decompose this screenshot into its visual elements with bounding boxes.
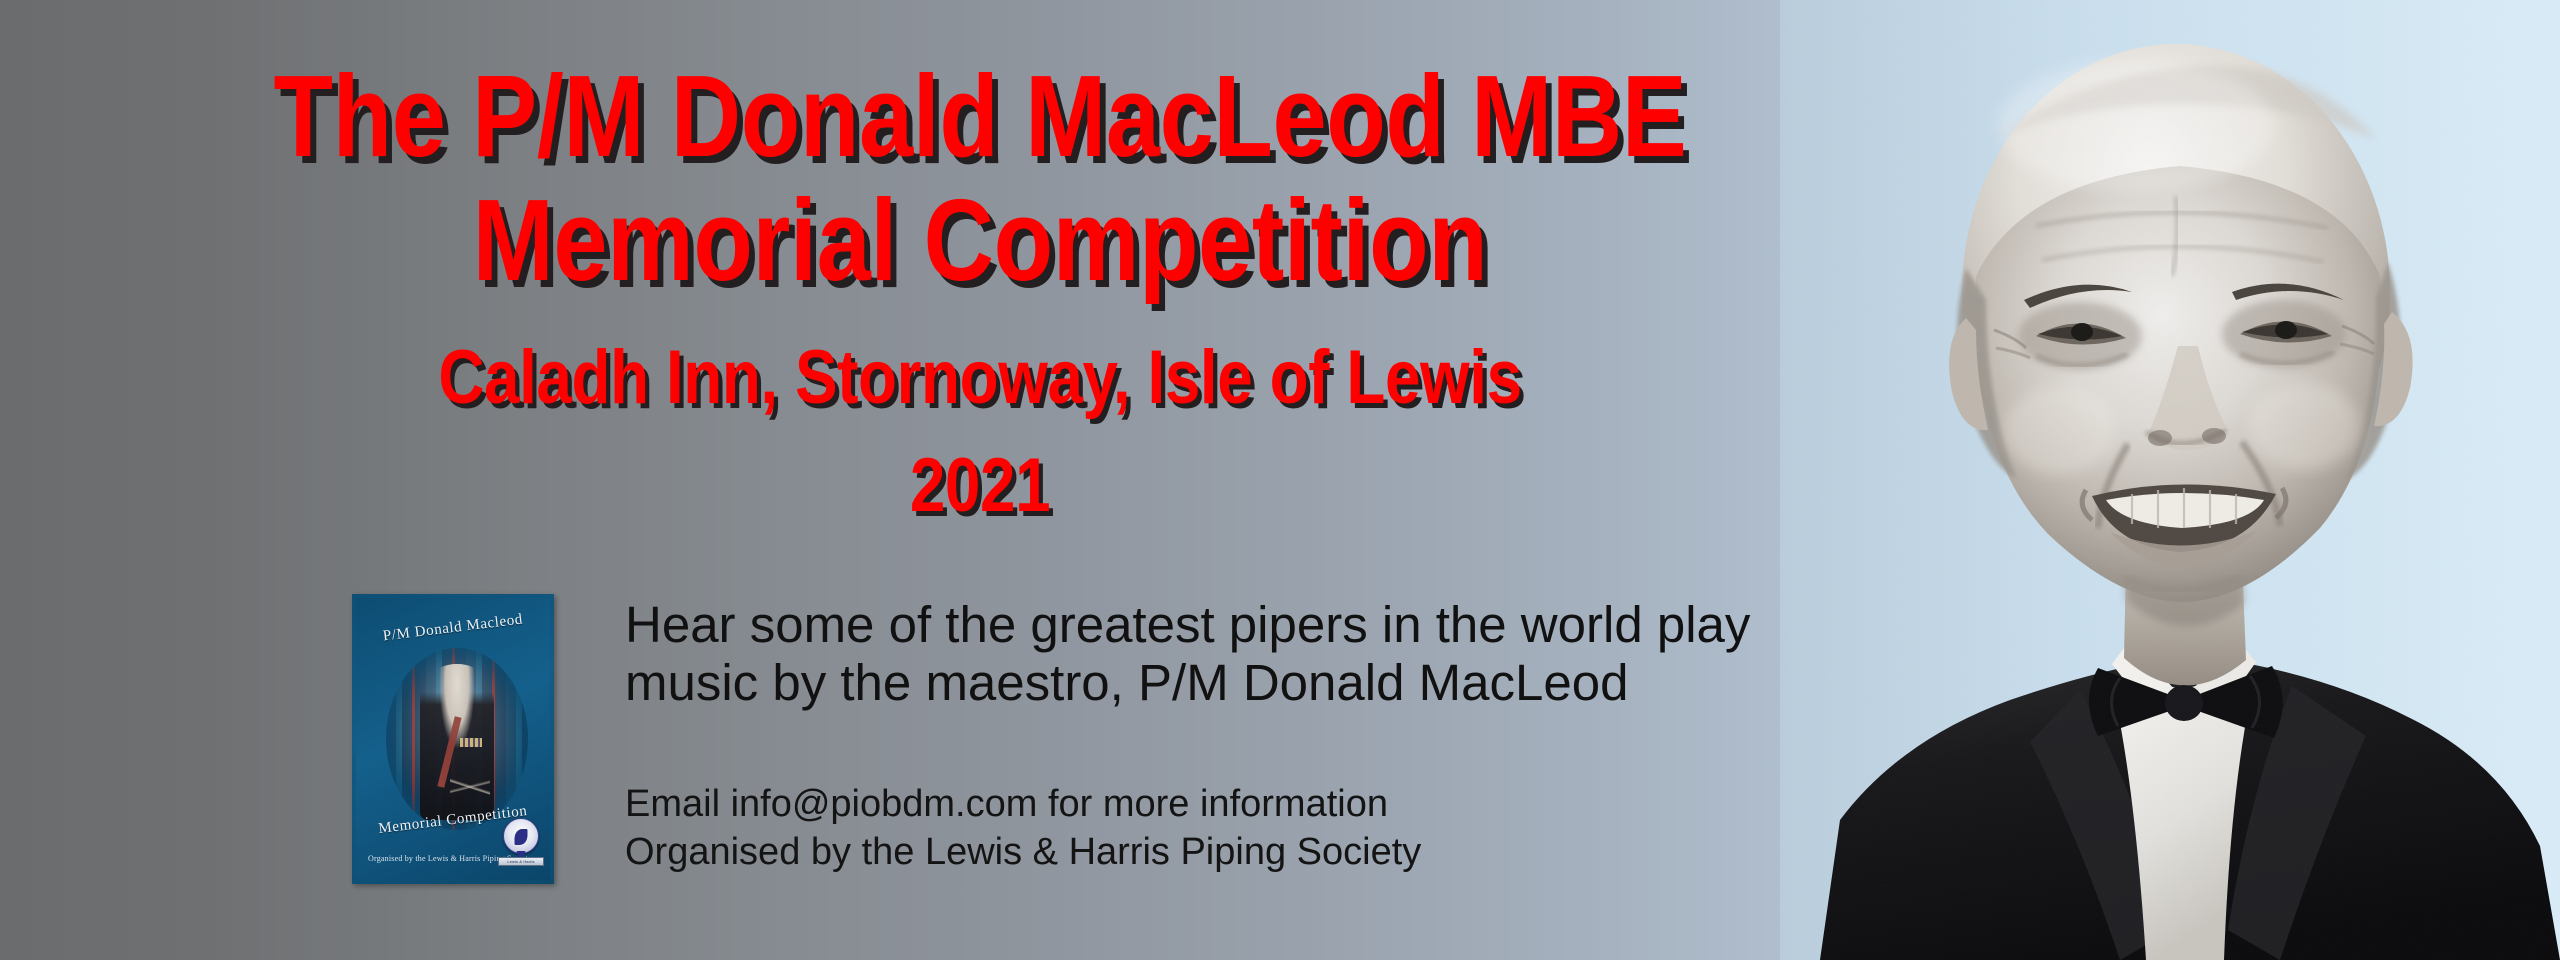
booklet-cover-thumbnail: P/M Donald Macleod Memorial Competition … <box>352 594 554 884</box>
booklet-tartan-oval <box>386 648 528 830</box>
body-line-2: music by the maestro, P/M Donald MacLeod <box>625 654 1915 712</box>
body-line-1: Hear some of the greatest pipers in the … <box>625 596 1915 654</box>
booklet-logo-label: Lewis & Harris <box>498 857 544 866</box>
booklet-arc-title: P/M Donald Macleod <box>356 608 551 649</box>
page-title-line-1: The P/M Donald MacLeod MBE <box>157 58 1803 174</box>
piping-society-logo-icon <box>503 818 539 854</box>
body-copy: Hear some of the greatest pipers in the … <box>625 596 1915 712</box>
year-subtitle: 2021 <box>157 448 1803 524</box>
booklet-piper-figure <box>420 664 494 820</box>
contact-email-line: Email info@piobdm.com for more informati… <box>625 780 1915 828</box>
text-zone: The P/M Donald MacLeod MBE Memorial Comp… <box>0 0 1960 960</box>
booklet-bagpipes <box>450 760 490 812</box>
booklet-cover-inner: P/M Donald Macleod Memorial Competition … <box>356 598 550 880</box>
booklet-piper-medals <box>460 738 482 747</box>
portrait-photo <box>1780 0 2560 960</box>
event-banner: The P/M Donald MacLeod MBE Memorial Comp… <box>0 0 2560 960</box>
page-title-line-2: Memorial Competition <box>157 182 1803 298</box>
logo-bird-shape <box>515 829 528 845</box>
organiser-line: Organised by the Lewis & Harris Piping S… <box>625 828 1915 876</box>
footer-copy: Email info@piobdm.com for more informati… <box>625 780 1915 876</box>
venue-subtitle: Caladh Inn, Stornoway, Isle of Lewis <box>157 340 1803 416</box>
